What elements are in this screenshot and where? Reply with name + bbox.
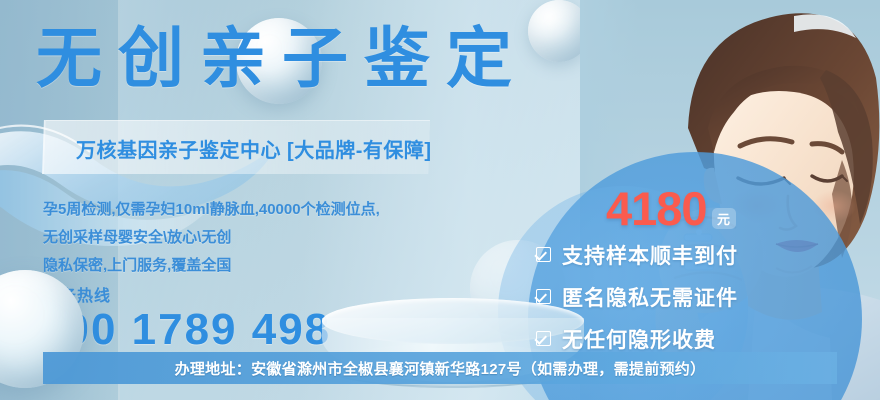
check-square-icon [536, 289, 551, 304]
benefit-label: 支持样本顺丰到付 [562, 240, 738, 270]
advertisement-banner: 无创亲子鉴定 万核基因亲子鉴定中心 [大品牌-有保障] 孕5周检测,仅需孕妇10… [0, 0, 880, 400]
page-title: 无创亲子鉴定 [36, 20, 528, 96]
benefit-label: 无任何隐形收费 [562, 324, 716, 354]
feature-list: 孕5周检测,仅需孕妇10ml静脉血,40000个检测位点, 无创采样母婴安全\放… [43, 196, 380, 280]
feature-line: 孕5周检测,仅需孕妇10ml静脉血,40000个检测位点, [43, 196, 380, 224]
price-amount: 4180 [606, 186, 707, 232]
feature-line: 隐私保密,上门服务,覆盖全国 [43, 252, 380, 280]
price-block: 4180 元 [606, 186, 736, 232]
benefit-list: 支持样本顺丰到付 匿名隐私无需证件 无任何隐形收费 [536, 236, 738, 362]
check-square-icon [536, 247, 551, 262]
check-square-icon [536, 331, 551, 346]
address-text: 办理地址：安徽省滁州市全椒县襄河镇新华路127号（如需办理，需提前预约） [175, 358, 706, 379]
price-unit-badge: 元 [712, 208, 736, 229]
list-item: 匿名隐私无需证件 [536, 278, 738, 315]
benefit-label: 匿名隐私无需证件 [562, 282, 738, 312]
feature-line: 无创采样母婴安全\放心\无创 [43, 224, 380, 252]
subtitle-text: 万核基因亲子鉴定中心 [大品牌-有保障] [76, 134, 432, 163]
address-bar: 办理地址：安徽省滁州市全椒县襄河镇新华路127号（如需办理，需提前预约） [43, 352, 837, 384]
list-item: 支持样本顺丰到付 [536, 236, 738, 273]
